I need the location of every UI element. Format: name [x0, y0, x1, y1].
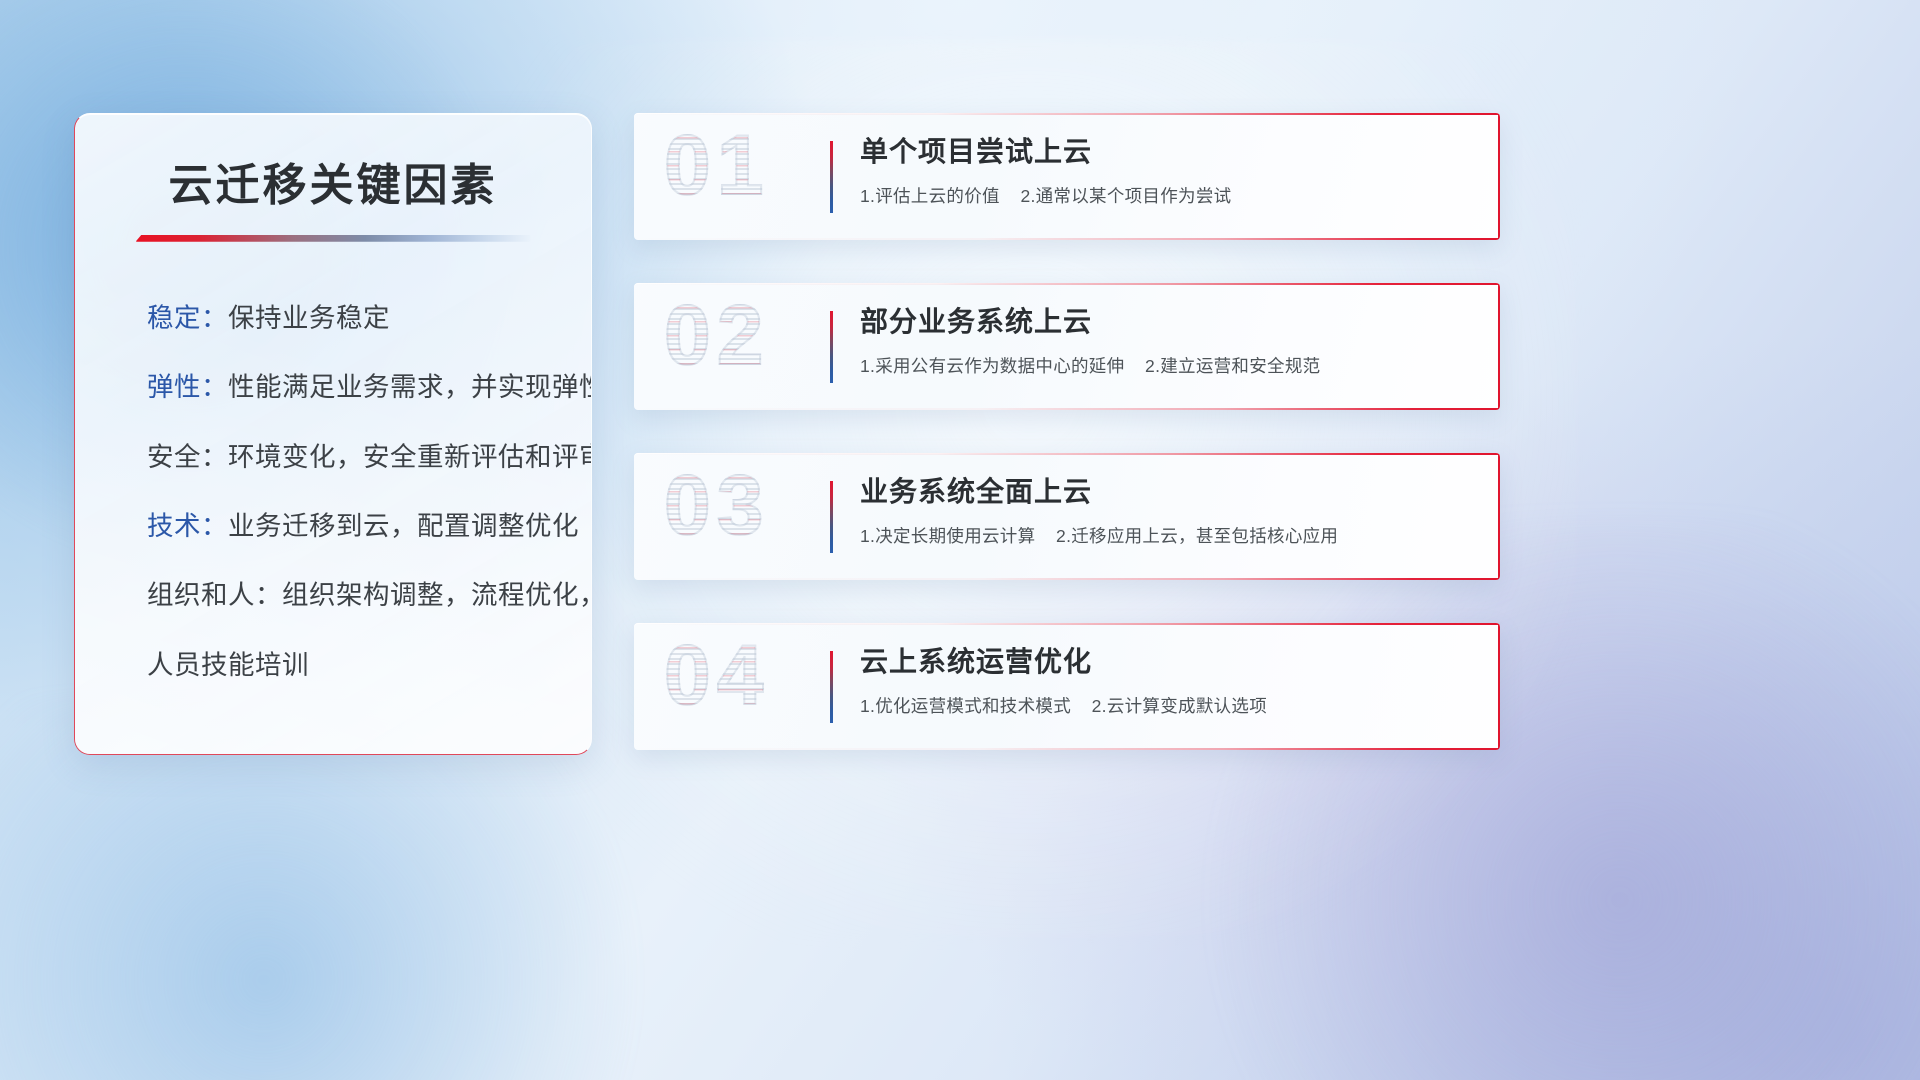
list-item: 稳定：保持业务稳定: [147, 302, 547, 335]
step-title: 单个项目尝试上云: [860, 135, 1470, 169]
step-divider-bar: [830, 481, 833, 553]
step-number-red-overlay: 04: [664, 633, 769, 717]
card-right-accent-line: [1498, 453, 1500, 580]
step-description: 1.采用公有云作为数据中心的延伸 2.建立运营和安全规范: [860, 353, 1470, 378]
card-bottom-accent-line: [634, 238, 1500, 240]
factor-text: 性能满足业务需求，并实现弹性: [228, 372, 592, 402]
factor-text: 组织架构调整，流程优化，: [282, 580, 592, 610]
card-right-accent-line: [1498, 623, 1500, 750]
factor-text: 保持业务稳定: [228, 303, 390, 333]
card-right-accent-line: [1498, 113, 1500, 240]
card-top-accent-line: [634, 283, 1500, 285]
list-item: 技术：业务迁移到云，配置调整优化: [147, 510, 547, 543]
step-card-02[interactable]: 02 02 部分业务系统上云 1.采用公有云作为数据中心的延伸 2.建立运营和安…: [634, 283, 1500, 410]
list-item: 弹性：性能满足业务需求，并实现弹性: [147, 371, 547, 404]
step-title: 云上系统运营优化: [860, 645, 1470, 679]
factor-text: 环境变化，安全重新评估和评审: [228, 442, 592, 472]
key-factors-card: 云迁移关键因素 稳定：保持业务稳定 弹性：性能满足业务需求，并实现弹性 安全：环…: [74, 113, 592, 755]
factor-label: 安全：: [147, 442, 228, 472]
factor-text: 业务迁移到云，配置调整优化: [228, 511, 579, 541]
step-card-03[interactable]: 03 03 业务系统全面上云 1.决定长期使用云计算 2.迁移应用上云，甚至包括…: [634, 453, 1500, 580]
card-bottom-accent-line: [634, 408, 1500, 410]
step-description: 1.优化运营模式和技术模式 2.云计算变成默认选项: [860, 693, 1470, 718]
card-right-accent-line: [1498, 283, 1500, 410]
step-number-red-overlay: 01: [664, 123, 769, 207]
factor-label: 弹性：: [147, 372, 228, 402]
page-title: 云迁移关键因素: [119, 160, 547, 213]
factor-label: 稳定：: [147, 303, 228, 333]
card-top-accent-line: [634, 453, 1500, 455]
card-top-accent-line: [634, 113, 1500, 115]
factor-text: 人员技能培训: [147, 650, 309, 680]
step-card-04[interactable]: 04 04 云上系统运营优化 1.优化运营模式和技术模式 2.云计算变成默认选项: [634, 623, 1500, 750]
step-card-01[interactable]: 01 01 单个项目尝试上云 1.评估上云的价值 2.通常以某个项目作为尝试: [634, 113, 1500, 240]
title-underline-gradient: [136, 235, 531, 242]
step-title: 业务系统全面上云: [860, 475, 1470, 509]
step-number-red-overlay: 03: [664, 463, 769, 547]
step-title: 部分业务系统上云: [860, 305, 1470, 339]
step-divider-bar: [830, 311, 833, 383]
list-item: 安全：环境变化，安全重新评估和评审: [147, 441, 547, 474]
step-description: 1.评估上云的价值 2.通常以某个项目作为尝试: [860, 183, 1470, 208]
step-divider-bar: [830, 651, 833, 723]
list-item: 组织和人：组织架构调整，流程优化，: [147, 579, 547, 612]
step-description: 1.决定长期使用云计算 2.迁移应用上云，甚至包括核心应用: [860, 523, 1470, 548]
step-number-red-overlay: 02: [664, 293, 769, 377]
step-divider-bar: [830, 141, 833, 213]
card-bottom-accent-line: [634, 748, 1500, 750]
card-bottom-accent-line: [634, 578, 1500, 580]
list-item: 人员技能培训: [147, 649, 547, 682]
migration-steps-list: 01 01 单个项目尝试上云 1.评估上云的价值 2.通常以某个项目作为尝试 0…: [634, 113, 1500, 750]
key-factors-list: 稳定：保持业务稳定 弹性：性能满足业务需求，并实现弹性 安全：环境变化，安全重新…: [119, 302, 547, 682]
card-top-accent-line: [634, 623, 1500, 625]
factor-label: 组织和人：: [147, 580, 282, 610]
factor-label: 技术：: [147, 511, 228, 541]
